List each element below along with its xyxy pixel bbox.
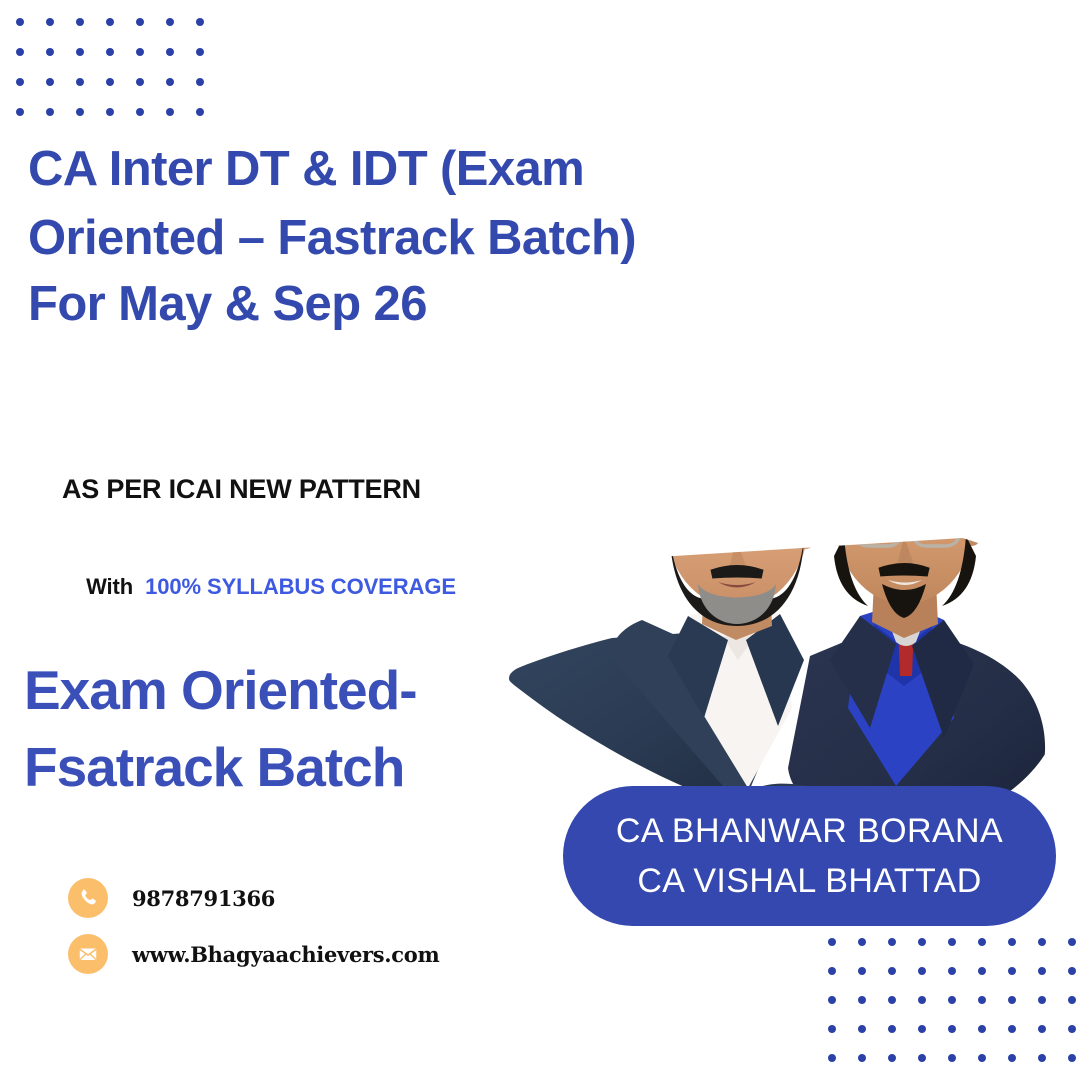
decor-dot [948, 996, 956, 1004]
decor-dot [978, 1025, 986, 1033]
decor-dot [1038, 938, 1046, 946]
faculty-name-badge: CA BHANWAR BORANA CA VISHAL BHATTAD [563, 786, 1056, 926]
faculty-photo [492, 388, 1072, 838]
website-url: www.Bhagyaachievers.com [132, 942, 439, 967]
decor-dot [166, 108, 174, 116]
decor-dot [1008, 996, 1016, 1004]
decor-dot [16, 18, 24, 26]
decor-dot [1068, 1054, 1076, 1062]
decor-dot [1008, 967, 1016, 975]
decor-dot [76, 108, 84, 116]
decor-dot [1068, 967, 1076, 975]
decor-dot [16, 48, 24, 56]
decor-dot [1038, 967, 1046, 975]
decor-dot [828, 1025, 836, 1033]
decor-dot [196, 18, 204, 26]
decor-dot [196, 48, 204, 56]
decor-dot [858, 996, 866, 1004]
decor-dot [1008, 1054, 1016, 1062]
phone-number: 9878791366 [132, 886, 275, 911]
decor-dot [858, 1025, 866, 1033]
decor-dot [16, 108, 24, 116]
phone-icon [68, 878, 108, 918]
decor-dot [828, 938, 836, 946]
decor-dot [888, 938, 896, 946]
decor-dot [978, 996, 986, 1004]
decor-dot [166, 48, 174, 56]
icai-pattern-label: AS PER ICAI NEW PATTERN [62, 474, 421, 505]
headline-line-3: For May & Sep 26 [28, 273, 768, 335]
batch-title: Exam Oriented- Fsatrack Batch [24, 652, 494, 806]
batch-title-line-2: Fsatrack Batch [24, 729, 494, 806]
decor-dot [76, 48, 84, 56]
decor-dot [46, 48, 54, 56]
decor-dot [948, 938, 956, 946]
decor-dot [106, 48, 114, 56]
decorative-dot-grid-top-left [16, 18, 226, 138]
faculty-name-1: CA BHANWAR BORANA [616, 807, 1003, 855]
page-title: CA Inter DT & IDT (Exam Oriented – Fastr… [28, 135, 768, 335]
decor-dot [46, 18, 54, 26]
decor-dot [858, 1054, 866, 1062]
contact-phone[interactable]: 9878791366 [68, 878, 275, 918]
poster-canvas: CA Inter DT & IDT (Exam Oriented – Fastr… [0, 0, 1080, 1080]
decor-dot [106, 18, 114, 26]
syllabus-coverage-label: With 100% SYLLABUS COVERAGE [62, 548, 456, 626]
decor-dot [106, 108, 114, 116]
decor-dot [978, 1054, 986, 1062]
decor-dot [1038, 1054, 1046, 1062]
decor-dot [136, 18, 144, 26]
contact-website[interactable]: www.Bhagyaachievers.com [68, 934, 439, 974]
headline-line-2: Oriented – Fastrack Batch) [28, 204, 768, 273]
decor-dot [1068, 1025, 1076, 1033]
decor-dot [196, 108, 204, 116]
decor-dot [918, 938, 926, 946]
decor-dot [918, 996, 926, 1004]
decor-dot [1038, 1025, 1046, 1033]
coverage-label: 100% SYLLABUS COVERAGE [145, 574, 456, 599]
decorative-dot-grid-bottom-right [828, 938, 1080, 1080]
decor-dot [166, 78, 174, 86]
decor-dot [888, 967, 896, 975]
decor-dot [1008, 1025, 1016, 1033]
decor-dot [46, 108, 54, 116]
decor-dot [828, 967, 836, 975]
decor-dot [948, 1054, 956, 1062]
decor-dot [106, 78, 114, 86]
decor-dot [136, 48, 144, 56]
decor-dot [978, 967, 986, 975]
decor-dot [166, 18, 174, 26]
decor-dot [948, 967, 956, 975]
decor-dot [46, 78, 54, 86]
decor-dot [16, 78, 24, 86]
decor-dot [1008, 938, 1016, 946]
decor-dot [918, 967, 926, 975]
decor-dot [858, 967, 866, 975]
decor-dot [918, 1025, 926, 1033]
envelope-icon [68, 934, 108, 974]
decor-dot [828, 1054, 836, 1062]
decor-dot [918, 1054, 926, 1062]
decor-dot [1068, 996, 1076, 1004]
decor-dot [136, 78, 144, 86]
decor-dot [196, 78, 204, 86]
decor-dot [1068, 938, 1076, 946]
decor-dot [978, 938, 986, 946]
decor-dot [136, 108, 144, 116]
decor-dot [828, 996, 836, 1004]
decor-dot [76, 78, 84, 86]
with-label: With [86, 574, 133, 599]
decor-dot [948, 1025, 956, 1033]
decor-dot [858, 938, 866, 946]
faculty-name-2: CA VISHAL BHATTAD [637, 857, 981, 905]
decor-dot [888, 1054, 896, 1062]
decor-dot [76, 18, 84, 26]
batch-title-line-1: Exam Oriented- [24, 652, 494, 729]
decor-dot [888, 1025, 896, 1033]
headline-line-1: CA Inter DT & IDT (Exam [28, 135, 768, 204]
decor-dot [888, 996, 896, 1004]
decor-dot [1038, 996, 1046, 1004]
